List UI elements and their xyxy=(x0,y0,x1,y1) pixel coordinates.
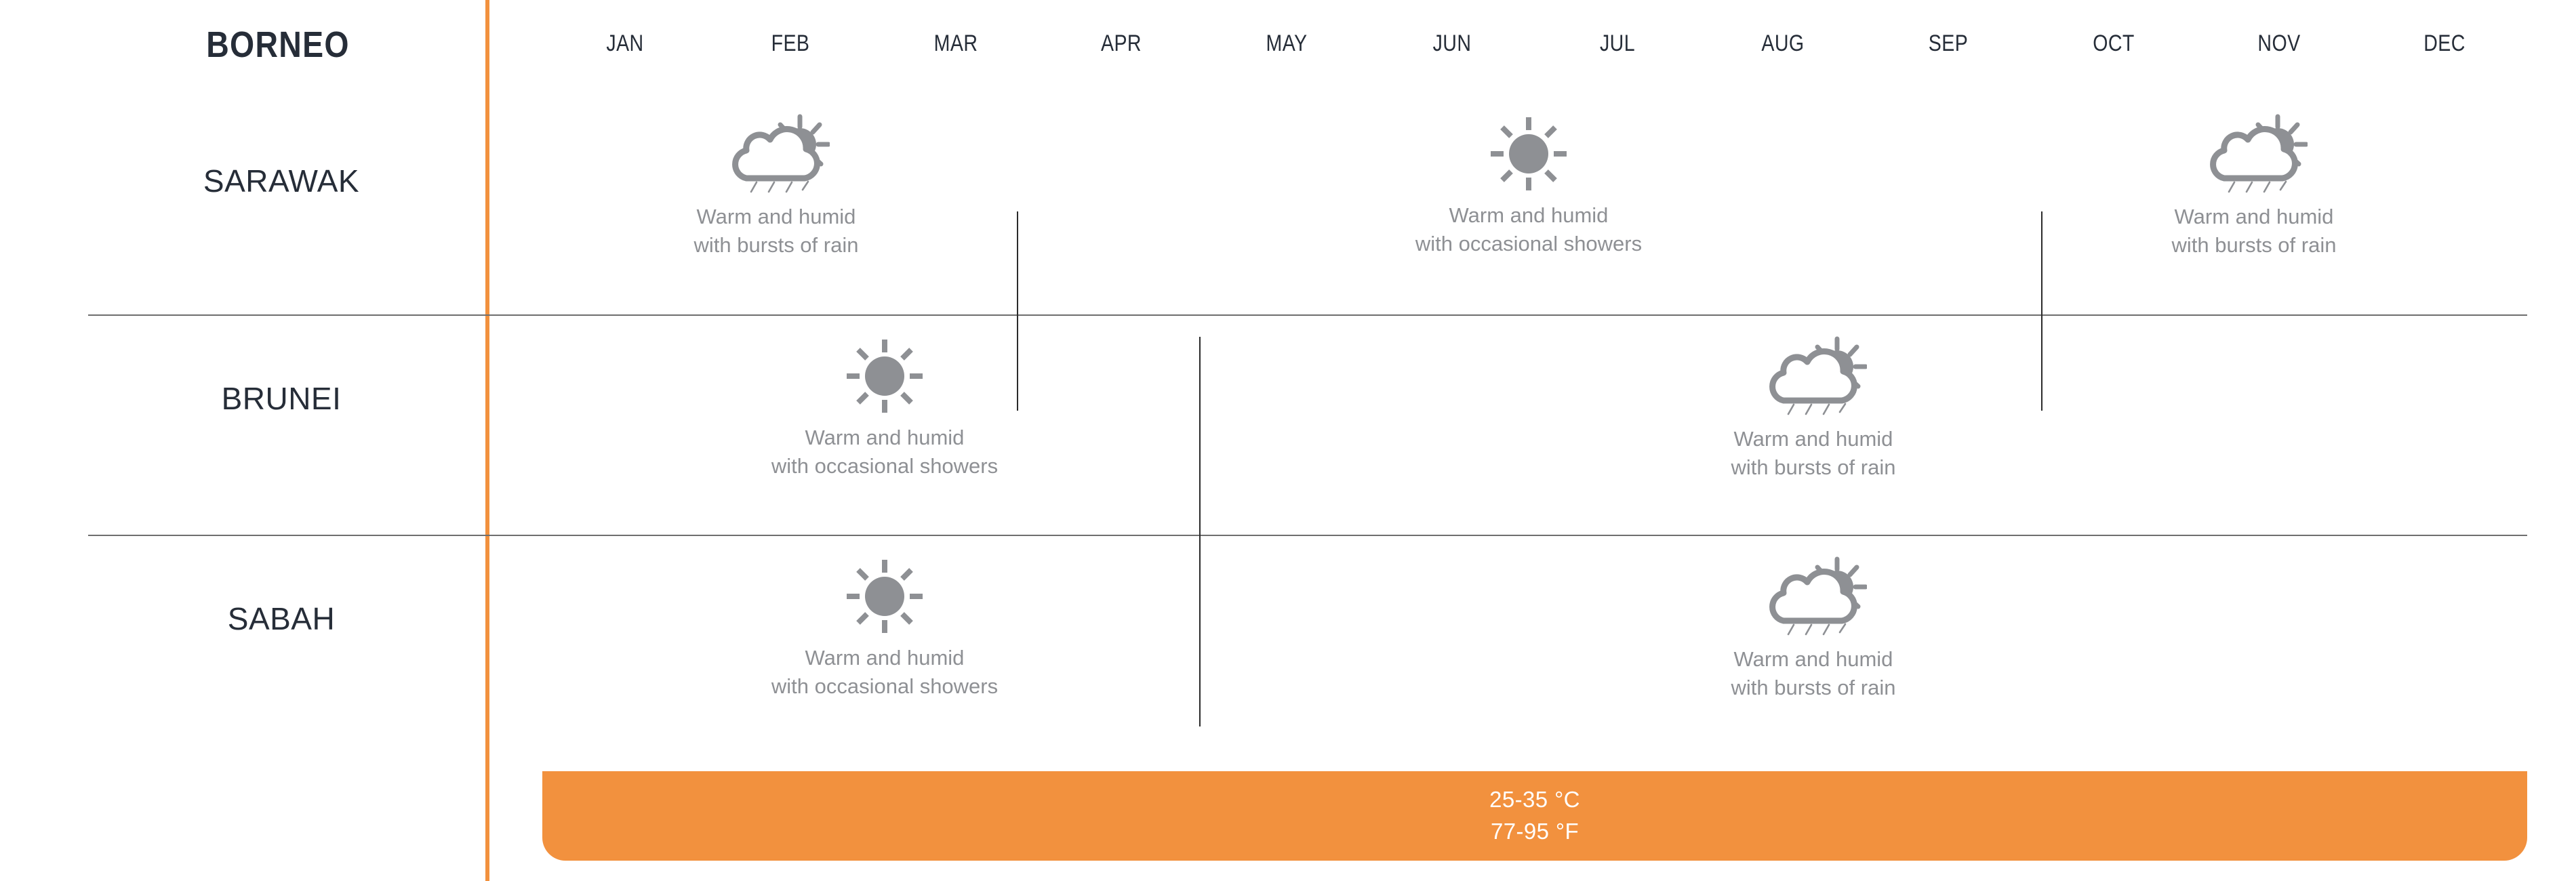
month-label-aug: AUG xyxy=(1714,30,1853,62)
temperature-celsius: 25-35 °C xyxy=(1489,784,1580,816)
month-label-sep: SEP xyxy=(1879,30,2018,62)
region-row-sabah: SABAH Warm and humi xyxy=(0,536,2576,756)
sun-behind-rain-cloud-icon xyxy=(1691,556,1935,640)
region-label-sabah: SABAH xyxy=(88,600,475,637)
region-row-brunei: BRUNEI Warm and hum xyxy=(0,316,2576,535)
region-label-sarawak: SARAWAK xyxy=(88,163,475,199)
sun-icon xyxy=(749,558,1020,638)
period-separator xyxy=(1199,337,1201,726)
temperature-fahrenheit: 77-95 °F xyxy=(1491,816,1579,848)
month-label-nov: NOV xyxy=(2210,30,2349,62)
month-label-jun: JUN xyxy=(1383,30,1522,62)
weather-cell: Warm and humid with occasional showers xyxy=(1407,115,1651,258)
weather-caption: Warm and humid with occasional showers xyxy=(749,424,1020,480)
weather-caption: Warm and humid with occasional showers xyxy=(749,644,1020,701)
sun-behind-rain-cloud-icon xyxy=(1691,336,1935,419)
month-label-jul: JUL xyxy=(1548,30,1687,62)
month-label-may: MAY xyxy=(1217,30,1356,62)
temperature-range-bar: 25-35 °C 77-95 °F xyxy=(542,771,2527,861)
weather-caption: Warm and humid with bursts of rain xyxy=(1691,425,1935,482)
month-label-dec: DEC xyxy=(2375,30,2514,62)
month-label-mar: MAR xyxy=(887,30,1026,62)
weather-cell: Warm and humid with occasional showers xyxy=(749,337,1020,480)
weather-cell: Warm and humid with bursts of rain xyxy=(1691,336,1935,482)
sun-behind-rain-cloud-icon xyxy=(654,114,898,197)
weather-caption: Warm and humid with bursts of rain xyxy=(2132,203,2376,260)
month-label-feb: FEB xyxy=(721,30,860,62)
month-label-oct: OCT xyxy=(2045,30,2183,62)
region-row-sarawak: SARAWAK xyxy=(0,95,2576,314)
month-label-apr: APR xyxy=(1052,30,1191,62)
page-title: BORNEO xyxy=(115,24,441,66)
weather-caption: Warm and humid with bursts of rain xyxy=(1691,645,1935,702)
weather-cell: Warm and humid with bursts of rain xyxy=(654,114,898,260)
weather-cell: Warm and humid with bursts of rain xyxy=(2132,114,2376,260)
weather-caption: Warm and humid with bursts of rain xyxy=(654,203,898,260)
sun-icon xyxy=(749,337,1020,418)
month-label-jan: JAN xyxy=(556,30,695,62)
region-label-brunei: BRUNEI xyxy=(88,380,475,417)
weather-cell: Warm and humid with occasional showers xyxy=(749,558,1020,701)
weather-caption: Warm and humid with occasional showers xyxy=(1407,201,1651,258)
month-header-row: JAN FEB MAR APR MAY JUN JUL AUG SEP OCT … xyxy=(542,30,2527,62)
sun-icon xyxy=(1407,115,1651,196)
climate-chart: BORNEO JAN FEB MAR APR MAY JUN JUL AUG S… xyxy=(0,0,2576,881)
sun-behind-rain-cloud-icon xyxy=(2132,114,2376,197)
weather-cell: Warm and humid with bursts of rain xyxy=(1691,556,1935,702)
